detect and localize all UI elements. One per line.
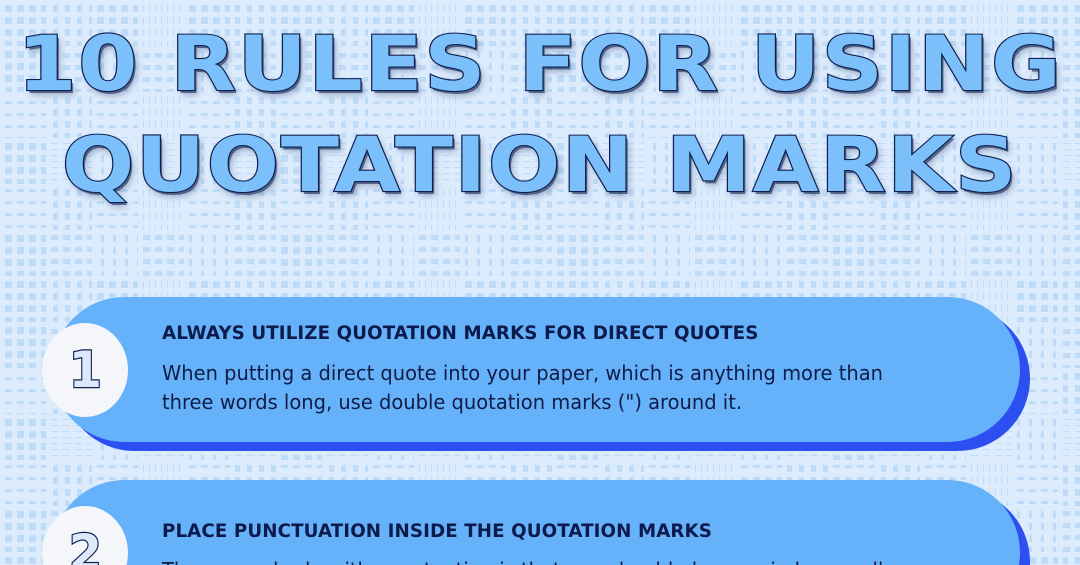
poster-title: 10 RULES FOR USING QUOTATION MARKS [0, 28, 1080, 202]
rule-body: The general rule with punctuation is tha… [162, 556, 951, 565]
rule-body: When putting a direct quote into your pa… [162, 359, 951, 417]
rule-heading: PLACE PUNCTUATION INSIDE THE QUOTATION M… [162, 520, 959, 543]
infographic-canvas: 10 RULES FOR USING QUOTATION MARKS 1 ALW… [0, 0, 1080, 565]
rule-number-label: 2 [68, 528, 101, 565]
poster-title-line-2: QUOTATION MARKS [0, 129, 1080, 202]
rule-text-block: PLACE PUNCTUATION INSIDE THE QUOTATION M… [162, 480, 1002, 565]
rule-body-line: three words long, use double quotation m… [162, 388, 951, 417]
rule-number-label: 1 [68, 345, 101, 395]
poster-title-line-1: 10 RULES FOR USING [0, 28, 1080, 101]
rule-card[interactable]: 1 ALWAYS UTILIZE QUOTATION MARKS FOR DIR… [52, 297, 1020, 442]
rule-card[interactable]: 2 PLACE PUNCTUATION INSIDE THE QUOTATION… [52, 480, 1020, 565]
rule-number-badge: 1 [42, 323, 128, 417]
rule-body-line: The general rule with punctuation is tha… [162, 556, 951, 565]
title-line-2-wrap: QUOTATION MARKS [0, 129, 1080, 202]
title-line-1-wrap: 10 RULES FOR USING [0, 28, 1080, 101]
rule-body-line: When putting a direct quote into your pa… [162, 359, 951, 388]
rule-heading: ALWAYS UTILIZE QUOTATION MARKS FOR DIREC… [162, 322, 959, 345]
rule-text-block: ALWAYS UTILIZE QUOTATION MARKS FOR DIREC… [162, 297, 1002, 442]
